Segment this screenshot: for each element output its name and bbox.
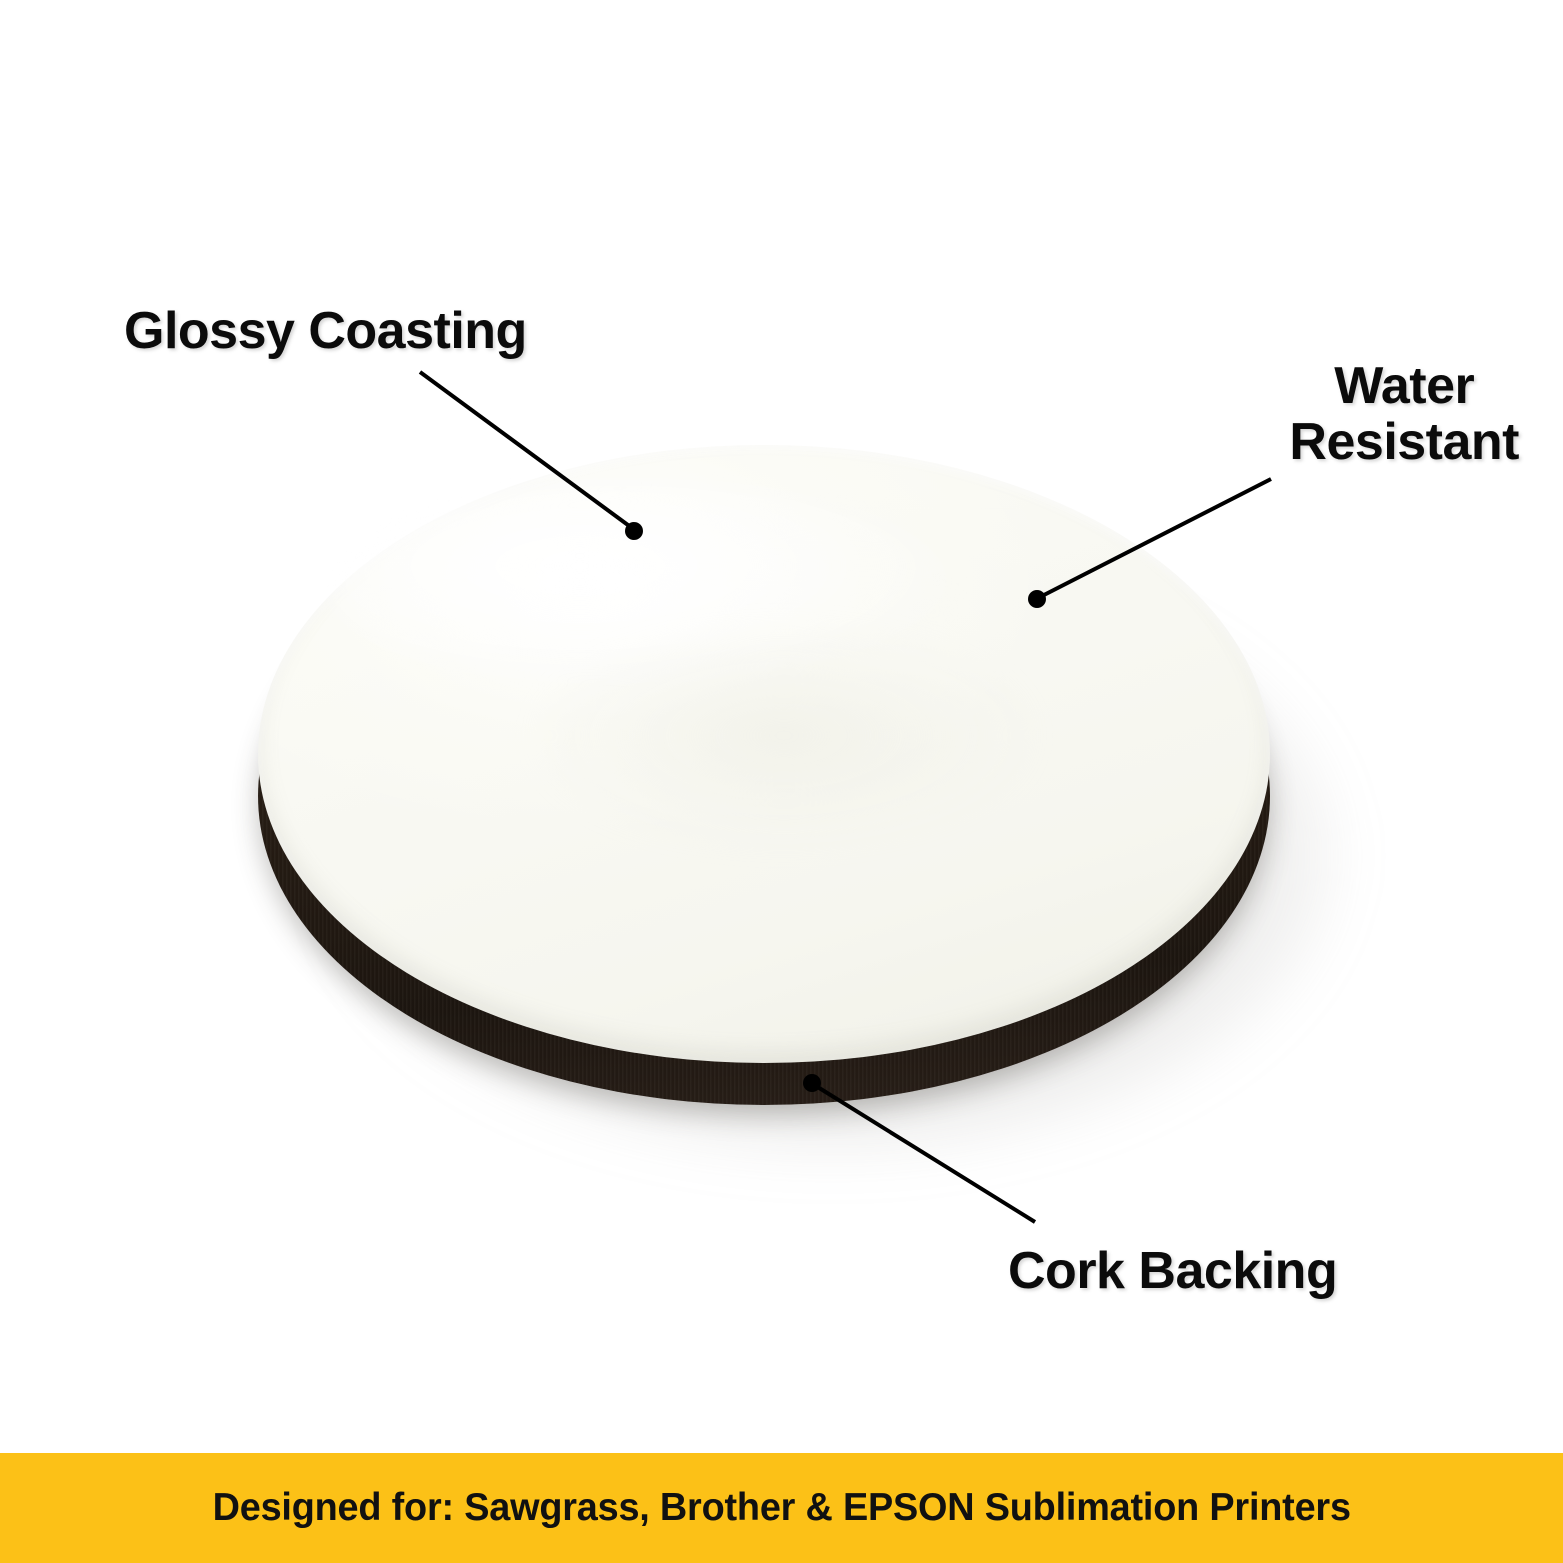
coaster-glossy-top-surface <box>258 445 1270 1063</box>
footer-banner: Designed for: Sawgrass, Brother & EPSON … <box>0 1453 1563 1563</box>
callout-label-cork-backing: Cork Backing <box>1008 1243 1337 1299</box>
callout-label-glossy-coasting: Glossy Coasting <box>124 303 527 359</box>
product-illustration <box>0 0 1563 1420</box>
infographic-canvas: Glossy Coasting Water Resistant Cork Bac… <box>0 0 1563 1563</box>
footer-banner-text: Designed for: Sawgrass, Brother & EPSON … <box>212 1486 1350 1530</box>
callout-label-water-resistant: Water Resistant <box>1289 358 1519 470</box>
